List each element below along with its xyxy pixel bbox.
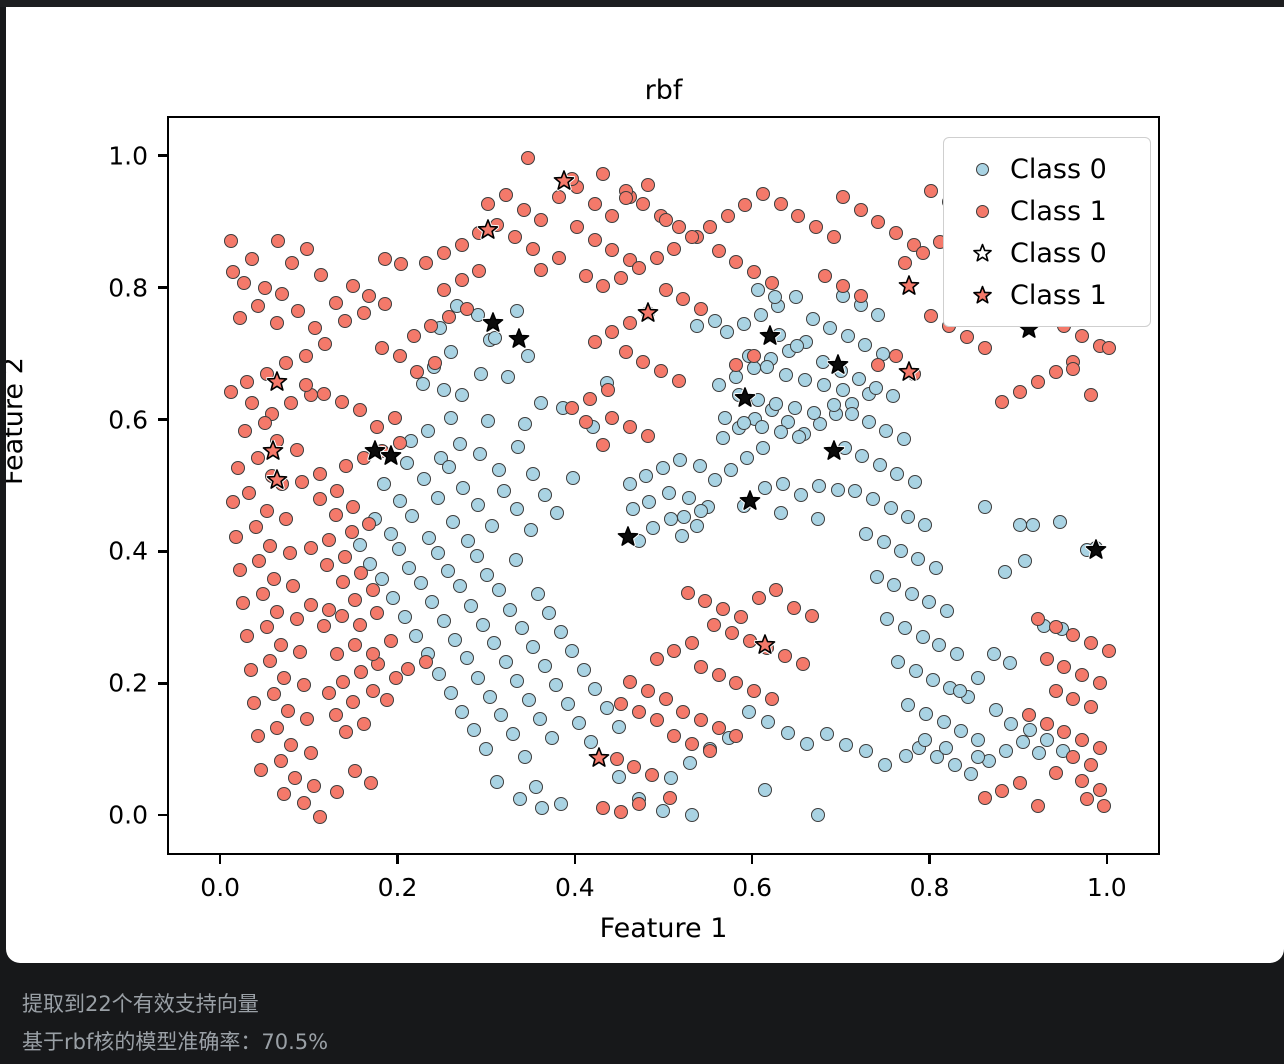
scatter-point	[455, 388, 469, 402]
scatter-point	[353, 618, 367, 632]
scatter-point	[588, 682, 602, 696]
scatter-point	[751, 393, 765, 407]
scatter-point	[907, 367, 921, 381]
scatter-point	[461, 534, 475, 548]
scatter-point	[446, 515, 460, 529]
scatter-point	[807, 406, 821, 420]
scatter-point	[1066, 628, 1080, 642]
scatter-point	[330, 647, 344, 661]
scatter-point	[542, 606, 556, 620]
scatter-point	[357, 451, 371, 465]
scatter-point	[485, 519, 499, 533]
scatter-point	[676, 705, 690, 719]
scatter-point	[1049, 766, 1063, 780]
scatter-point	[712, 378, 726, 392]
scatter-point	[841, 329, 855, 343]
scatter-point	[260, 620, 274, 634]
scatter-point	[453, 437, 467, 451]
scatter-point	[531, 587, 545, 601]
scatter-point	[827, 398, 841, 412]
scatter-point	[1022, 708, 1036, 722]
scatter-point	[474, 367, 488, 381]
scatter-point	[901, 698, 915, 712]
scatter-point	[1075, 733, 1089, 747]
scatter-point	[641, 178, 655, 192]
scatter-point	[375, 341, 389, 355]
scatter-point	[800, 737, 814, 751]
scatter-point	[492, 583, 506, 597]
scatter-point	[249, 520, 263, 534]
scatter-point	[676, 292, 690, 306]
scatter-point	[755, 420, 769, 434]
scatter-point	[720, 325, 734, 339]
scatter-point	[596, 279, 610, 293]
scatter-point	[737, 499, 751, 513]
scatter-point	[685, 808, 699, 822]
x-axis-tick-mark	[928, 855, 930, 864]
scatter-point	[605, 209, 619, 223]
scatter-point	[950, 647, 964, 661]
scatter-point	[884, 501, 898, 515]
scatter-point	[378, 252, 392, 266]
scatter-point	[1013, 518, 1027, 532]
scatter-point	[322, 686, 336, 700]
scatter-point	[364, 776, 378, 790]
scatter-point	[897, 432, 911, 446]
scatter-point	[836, 383, 850, 397]
scatter-point	[916, 246, 930, 260]
scatter-point	[870, 570, 884, 584]
x-axis-label: Feature 1	[167, 913, 1160, 944]
scatter-point	[330, 785, 344, 799]
scatter-point	[339, 459, 353, 473]
y-axis-tick-label: 0.0	[6, 801, 148, 830]
console-output-panel: 提取到22个有效支持向量 基于rbf核的模型准确率：70.5%	[0, 963, 1284, 1064]
x-axis-tick-label: 0.8	[910, 873, 950, 902]
scatter-point	[871, 358, 885, 372]
scatter-point	[752, 591, 766, 605]
scatter-point	[641, 306, 655, 320]
scatter-point	[601, 383, 615, 397]
scatter-point	[226, 495, 240, 509]
scatter-point	[317, 619, 331, 633]
scatter-point	[924, 184, 938, 198]
scatter-point	[1084, 636, 1098, 650]
scatter-point	[579, 415, 593, 429]
scatter-point	[663, 791, 677, 805]
scatter-point	[565, 401, 579, 415]
scatter-point	[258, 416, 272, 430]
scatter-point	[642, 495, 656, 509]
scatter-point	[939, 741, 953, 755]
scatter-point	[414, 576, 428, 590]
scatter-point	[760, 641, 774, 655]
scatter-point	[307, 779, 321, 793]
scatter-point	[811, 512, 825, 526]
console-line-support-vectors: 提取到22个有效支持向量	[22, 985, 1262, 1023]
scatter-point	[260, 367, 274, 381]
scatter-point	[605, 411, 619, 425]
scatter-point	[277, 671, 291, 685]
scatter-point	[877, 535, 891, 549]
scatter-point	[685, 636, 699, 650]
scatter-point	[1013, 385, 1027, 399]
scatter-point	[889, 226, 903, 240]
scatter-point	[811, 808, 825, 822]
scatter-point	[662, 486, 676, 500]
scatter-point	[806, 312, 820, 326]
scatter-point	[693, 459, 707, 473]
scatter-point	[836, 190, 850, 204]
scatter-point	[524, 523, 538, 537]
scatter-point	[778, 649, 792, 663]
scatter-point	[419, 256, 433, 270]
scatter-point	[392, 542, 406, 556]
scatter-point	[916, 630, 930, 644]
console-line-accuracy: 基于rbf核的模型准确率：70.5%	[22, 1023, 1262, 1061]
scatter-point	[716, 602, 730, 616]
scatter-point	[659, 213, 673, 227]
scatter-point	[354, 665, 368, 679]
scatter-point	[650, 713, 664, 727]
scatter-point	[398, 610, 412, 624]
scatter-point	[422, 531, 436, 545]
legend-item-1[interactable]: Class 1	[954, 190, 1136, 232]
scatter-point	[834, 364, 848, 378]
scatter-point	[467, 723, 481, 737]
scatter-point	[375, 444, 389, 458]
scatter-point	[554, 625, 568, 639]
scatter-point	[267, 572, 281, 586]
scatter-point	[1093, 676, 1107, 690]
scatter-point	[659, 283, 673, 297]
scatter-point	[1057, 660, 1071, 674]
scatter-point	[431, 491, 445, 505]
scatter-point	[481, 414, 495, 428]
scatter-point	[1102, 644, 1116, 658]
legend-item-2[interactable]: Class 0	[954, 232, 1136, 274]
scatter-point	[437, 246, 451, 260]
scatter-point	[838, 441, 852, 455]
scatter-point	[650, 652, 664, 666]
scatter-point	[377, 477, 391, 491]
scatter-point	[650, 251, 664, 265]
window-titlebar	[0, 0, 1284, 7]
scatter-point	[494, 708, 508, 722]
scatter-point	[831, 483, 845, 497]
scatter-point	[754, 308, 768, 322]
scatter-point	[229, 530, 243, 544]
scatter-point	[366, 684, 380, 698]
scatter-point	[772, 328, 786, 342]
scatter-point	[362, 517, 376, 531]
scatter-point	[740, 451, 754, 465]
scatter-point	[1080, 792, 1094, 806]
scatter-point	[455, 273, 469, 287]
scatter-point	[610, 752, 624, 766]
scatter-point	[464, 599, 478, 613]
scatter-point	[552, 251, 566, 265]
application-window: rbf Feature 2 Feature 1 0.00.20.40.60.81…	[0, 0, 1284, 1064]
scatter-point	[776, 477, 790, 491]
x-axis-tick-label: 0.4	[555, 873, 595, 902]
scatter-point	[444, 345, 458, 359]
scatter-point	[845, 407, 859, 421]
scatter-point	[317, 387, 331, 401]
scatter-point	[871, 308, 885, 322]
scatter-point	[526, 640, 540, 654]
scatter-point	[852, 372, 866, 386]
scatter-point	[729, 358, 743, 372]
scatter-point	[584, 735, 598, 749]
scatter-point	[335, 395, 349, 409]
page-title: rbf	[167, 75, 1160, 106]
scatter-point	[271, 234, 285, 248]
scatter-point	[405, 509, 419, 523]
scatter-point	[712, 668, 726, 682]
scatter-point	[761, 715, 775, 729]
scatter-point	[274, 638, 288, 652]
scatter-point	[734, 610, 748, 624]
scatter-point	[1102, 341, 1116, 355]
scatter-point	[335, 609, 349, 623]
scatter-point	[370, 420, 384, 434]
scatter-point	[561, 697, 575, 711]
scatter-point	[336, 675, 350, 689]
scatter-point	[251, 299, 265, 313]
scatter-point	[308, 321, 322, 335]
scatter-point	[654, 364, 668, 378]
scatter-point	[314, 268, 328, 282]
scatter-point	[329, 296, 343, 310]
scatter-point	[890, 467, 904, 481]
scatter-point	[791, 209, 805, 223]
scatter-point	[437, 614, 451, 628]
scatter-point	[677, 510, 691, 524]
scatter-point	[765, 692, 779, 706]
scatter-point	[322, 603, 336, 617]
chart-legend[interactable]: Class 0Class 1Class 0Class 1	[943, 137, 1151, 327]
scatter-point	[518, 417, 532, 431]
scatter-point	[758, 481, 772, 495]
scatter-point	[1084, 700, 1098, 714]
scatter-point	[400, 456, 414, 470]
scatter-point	[1075, 774, 1089, 788]
scatter-point	[751, 283, 765, 297]
scatter-point	[1031, 799, 1045, 813]
scatter-point	[521, 151, 535, 165]
scatter-point	[448, 633, 462, 647]
scatter-point	[579, 269, 593, 283]
scatter-point	[270, 721, 284, 735]
scatter-point	[336, 575, 350, 589]
scatter-point	[366, 647, 380, 661]
scatter-point	[348, 593, 362, 607]
scatter-point	[918, 733, 932, 747]
scatter-point	[758, 783, 772, 797]
scatter-point	[812, 479, 826, 493]
scatter-point	[244, 663, 258, 677]
scatter-point	[357, 306, 371, 320]
scatter-point	[270, 434, 284, 448]
scatter-point	[619, 345, 633, 359]
y-axis-tick-label: 0.6	[6, 405, 148, 434]
scatter-point	[632, 261, 646, 275]
scatter-point	[779, 368, 793, 382]
scatter-point	[224, 234, 238, 248]
scatter-point	[827, 230, 841, 244]
scatter-point	[535, 801, 549, 815]
scatter-point	[583, 392, 597, 406]
scatter-point	[769, 583, 783, 597]
scatter-point	[526, 242, 540, 256]
scatter-point	[481, 197, 495, 211]
scatter-point	[656, 461, 670, 475]
scatter-point	[605, 243, 619, 257]
scatter-point	[712, 244, 726, 258]
scatter-point	[393, 494, 407, 508]
scatter-point	[483, 690, 497, 704]
scatter-point	[816, 355, 830, 369]
scatter-point	[886, 389, 900, 403]
scatter-point	[416, 377, 430, 391]
scatter-point	[346, 279, 360, 293]
scatter-point	[596, 801, 610, 815]
scatter-point	[1097, 799, 1111, 813]
scatter-point	[998, 565, 1012, 579]
scatter-point	[623, 420, 637, 434]
scatter-point	[989, 703, 1003, 717]
scatter-point	[455, 705, 469, 719]
scatter-point	[725, 626, 739, 640]
scatter-point	[738, 198, 752, 212]
scatter-point	[836, 279, 850, 293]
scatter-point	[304, 598, 318, 612]
scatter-point	[290, 612, 304, 626]
scatter-point	[345, 525, 359, 539]
scatter-point	[612, 770, 626, 784]
scatter-point	[685, 230, 699, 244]
scatter-point	[1040, 717, 1054, 731]
scatter-point	[588, 233, 602, 247]
scatter-point	[260, 504, 274, 518]
scatter-point	[533, 712, 547, 726]
scatter-point	[672, 374, 686, 388]
scatter-point	[263, 539, 277, 553]
scatter-point	[313, 492, 327, 506]
scatter-point	[425, 595, 439, 609]
scatter-point	[971, 733, 985, 747]
scatter-point	[322, 533, 336, 547]
scatter-point	[570, 220, 584, 234]
scatter-point	[442, 310, 456, 324]
scatter-point	[1089, 541, 1103, 555]
scatter-point	[279, 356, 293, 370]
scatter-point	[348, 638, 362, 652]
scatter-point	[479, 742, 493, 756]
scatter-point	[1093, 783, 1107, 797]
scatter-point	[664, 771, 678, 785]
scatter-point	[510, 304, 524, 318]
scatter-point	[712, 721, 726, 735]
scatter-point	[393, 436, 407, 450]
scatter-point	[304, 746, 318, 760]
scatter-point	[550, 506, 564, 520]
scatter-point	[796, 657, 810, 671]
scatter-point	[353, 403, 367, 417]
scatter-point	[614, 805, 628, 819]
scatter-point	[1084, 758, 1098, 772]
scatter-point	[1049, 365, 1063, 379]
legend-star-icon	[954, 243, 1010, 264]
scatter-point	[1023, 723, 1037, 737]
scatter-point	[866, 492, 880, 506]
legend-item-0[interactable]: Class 0	[954, 148, 1136, 190]
scatter-point	[1075, 668, 1089, 682]
scatter-point	[456, 481, 470, 495]
scatter-point	[490, 218, 504, 232]
scatter-point	[513, 792, 527, 806]
y-axis-tick-mark	[158, 682, 167, 684]
scatter-point	[470, 549, 484, 563]
y-axis-tick-mark	[158, 154, 167, 156]
scatter-point	[743, 634, 757, 648]
scatter-point	[978, 791, 992, 805]
scatter-point	[627, 760, 641, 774]
scatter-point	[707, 618, 721, 632]
scatter-point	[236, 596, 250, 610]
scatter-point	[820, 727, 834, 741]
scatter-point	[572, 716, 586, 730]
scatter-point	[473, 447, 487, 461]
scatter-point	[869, 381, 883, 395]
scatter-point	[233, 311, 247, 325]
scatter-point	[632, 705, 646, 719]
scatter-point	[297, 796, 311, 810]
scatter-point	[919, 707, 933, 721]
scatter-point	[953, 684, 967, 698]
scatter-point	[788, 401, 802, 415]
scatter-point	[673, 453, 687, 467]
scatter-point	[320, 558, 334, 572]
scatter-point	[898, 621, 912, 635]
scatter-point	[667, 242, 681, 256]
scatter-point	[987, 647, 1001, 661]
scatter-point	[233, 563, 247, 577]
legend-item-3[interactable]: Class 1	[954, 274, 1136, 316]
scatter-point	[667, 729, 681, 743]
scatter-point	[1066, 750, 1080, 764]
scatter-point	[566, 471, 580, 485]
scatter-point	[554, 797, 568, 811]
scatter-point	[251, 451, 265, 465]
scatter-point	[747, 361, 761, 375]
scatter-point	[781, 726, 795, 740]
y-axis-tick-mark	[158, 418, 167, 420]
scatter-point	[774, 425, 788, 439]
scatter-point	[284, 738, 298, 752]
scatter-point	[274, 754, 288, 768]
scatter-point	[859, 744, 873, 758]
x-axis-tick-mark	[751, 855, 753, 864]
scatter-point	[818, 269, 832, 283]
scatter-point	[251, 729, 265, 743]
scatter-point	[240, 375, 254, 389]
scatter-point	[632, 534, 646, 548]
scatter-point	[384, 634, 398, 648]
scatter-point	[724, 463, 738, 477]
legend-item-label: Class 0	[1010, 238, 1107, 269]
